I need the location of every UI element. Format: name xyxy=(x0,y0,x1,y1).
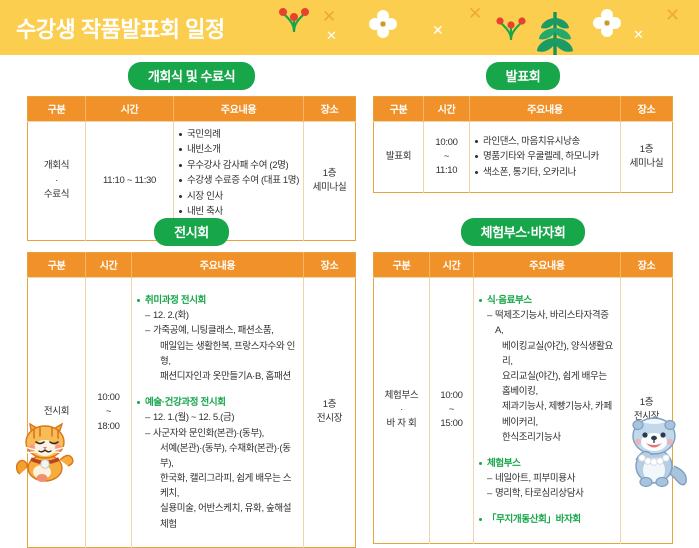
group-title: 체험부스 xyxy=(478,456,616,471)
section-opening-ceremony: 개회식 및 수료식 구분 시간 주요내용 장소 개회식 · 수료식 11:10 … xyxy=(27,62,356,241)
list-item: 우수강사 감사패 수여 (2명) xyxy=(178,158,299,173)
group-line: 서예(본관)·(동부), 수채화(본관)·(동부), xyxy=(136,441,299,471)
section-badge: 전시회 xyxy=(154,218,229,246)
schedule-table: 구분 시간 주요내용 장소 전시회 10:00 ~ 18:00 취미과정 전시회… xyxy=(27,252,356,548)
list-item: 내빈 축사 xyxy=(178,204,299,219)
cat-mascot xyxy=(12,414,84,486)
table-header-row: 구분 시간 주요내용 장소 xyxy=(374,253,673,278)
list-item: 수강생 수료증 수여 (대표 1명) xyxy=(178,173,299,188)
column-header-content: 주요내용 xyxy=(174,97,304,122)
section-presentation: 발표회 구분 시간 주요내용 장소 발표회 10:00 ~ 11:10 라인댄스… xyxy=(373,62,673,193)
cell-category: 체험부스 · 바 자 회 xyxy=(374,278,430,544)
group-line: 12. 2.(화) xyxy=(136,308,299,323)
list-item: 색소폰, 통기타, 오카리나 xyxy=(474,165,616,180)
table-header-row: 구분 시간 주요내용 장소 xyxy=(28,97,356,122)
group-line: 베이킹교실(야간), 양식생활요리, xyxy=(478,339,616,369)
column-header-place: 장소 xyxy=(621,253,673,278)
x-mark-icon: ✕ xyxy=(432,24,444,38)
table-row: 발표회 10:00 ~ 11:10 라인댄스, 마음치유시낭송 명품기타와 우쿨… xyxy=(374,122,673,193)
group-line: 네일아트, 피부미용사 xyxy=(478,471,616,486)
otter-mascot xyxy=(622,412,692,488)
cell-time: 10:00 ~ 11:10 xyxy=(424,122,470,193)
cell-category: 전시회 xyxy=(28,278,86,548)
content-group: 「무지개동산회」바자회 xyxy=(478,512,616,527)
column-header-content: 주요내용 xyxy=(132,253,304,278)
list-item: 명품기타와 우쿨렐레, 하모니카 xyxy=(474,149,616,164)
cell-place: 1층 전시장 xyxy=(304,278,356,548)
cell-content: 취미과정 전시회 12. 2.(화) 가죽공예, 니팅클래스, 패션소품, 매일… xyxy=(132,278,304,548)
group-line: 한국화, 캘리그라피, 쉽게 배우는 스케치, xyxy=(136,471,299,501)
group-line: 매일입는 생활한복, 프랑스자수와 인형, xyxy=(136,339,299,369)
table-row: 체험부스 · 바 자 회 10:00 ~ 15:00 식·음료부스 떡제조기능사… xyxy=(374,278,673,544)
section-experience-booth: 체험부스·바자회 구분 시간 주요내용 장소 체험부스 · 바 자 회 10:0… xyxy=(373,218,673,544)
section-badge: 개회식 및 수료식 xyxy=(128,62,255,90)
group-line: 사군자와 문인화(본관)·(동부), xyxy=(136,426,299,441)
table-row: 전시회 10:00 ~ 18:00 취미과정 전시회 12. 2.(화) 가죽공… xyxy=(28,278,356,548)
column-header-time: 시간 xyxy=(430,253,474,278)
group-line: 패션디자인과 옷만들기A·B, 홈패션 xyxy=(136,369,299,384)
schedule-table: 구분 시간 주요내용 장소 체험부스 · 바 자 회 10:00 ~ 15:00… xyxy=(373,252,673,544)
group-line: 실용미술, 어반스케치, 유화, 숲해설체험 xyxy=(136,501,299,531)
x-mark-icon: ✕ xyxy=(326,30,337,43)
section-badge: 발표회 xyxy=(486,62,561,90)
x-mark-icon: ✕ xyxy=(468,6,482,23)
list-item: 라인댄스, 마음치유시낭송 xyxy=(474,134,616,149)
group-line: 떡제조기능사, 바리스타자격증A, xyxy=(478,308,616,338)
column-header-content: 주요내용 xyxy=(474,253,621,278)
table-header-row: 구분 시간 주요내용 장소 xyxy=(374,97,673,122)
group-line: 가죽공예, 니팅클래스, 패션소품, xyxy=(136,323,299,338)
column-header-place: 장소 xyxy=(621,97,673,122)
column-header-category: 구분 xyxy=(28,97,86,122)
section-exhibition: 전시회 구분 시간 주요내용 장소 전시회 10:00 ~ 18:00 취미과정… xyxy=(27,218,356,548)
page-title: 수강생 작품발표회 일정 xyxy=(16,12,225,44)
column-header-time: 시간 xyxy=(424,97,470,122)
group-line: 12. 1.(월) ~ 12. 5.(금) xyxy=(136,410,299,425)
cell-content: 식·음료부스 떡제조기능사, 바리스타자격증A, 베이킹교실(야간), 양식생활… xyxy=(474,278,621,544)
list-item: 국민의례 xyxy=(178,127,299,142)
cell-place: 1층 세미나실 xyxy=(621,122,673,193)
column-header-place: 장소 xyxy=(304,253,356,278)
berry-sprig-icon xyxy=(277,4,311,34)
content-group: 식·음료부스 떡제조기능사, 바리스타자격증A, 베이킹교실(야간), 양식생활… xyxy=(478,293,616,445)
column-header-time: 시간 xyxy=(86,253,132,278)
group-line: 명리학, 타로심리상담사 xyxy=(478,486,616,501)
group-line: 제과기능사, 제빵기능사, 카페베이커리, xyxy=(478,399,616,429)
cell-category: 발표회 xyxy=(374,122,424,193)
section-badge: 체험부스·바자회 xyxy=(461,218,586,246)
group-line: 요리교실(야간), 쉽게 배우는 홈베이킹, xyxy=(478,369,616,399)
column-header-content: 주요내용 xyxy=(470,97,621,122)
flower-icon xyxy=(592,8,622,38)
column-header-place: 장소 xyxy=(304,97,356,122)
group-title: 식·음료부스 xyxy=(478,293,616,308)
x-mark-icon: ✕ xyxy=(322,9,336,26)
berry-sprig-icon xyxy=(495,14,527,42)
column-header-category: 구분 xyxy=(374,253,430,278)
content-group: 예술·건강과정 전시회 12. 1.(월) ~ 12. 5.(금) 사군자와 문… xyxy=(136,395,299,532)
group-title: 예술·건강과정 전시회 xyxy=(136,395,299,410)
column-header-category: 구분 xyxy=(28,253,86,278)
list-item: 시장 인사 xyxy=(178,189,299,204)
flower-icon xyxy=(368,9,398,39)
group-title: 취미과정 전시회 xyxy=(136,293,299,308)
content-group: 체험부스 네일아트, 피부미용사 명리학, 타로심리상담사 xyxy=(478,456,616,502)
schedule-table: 구분 시간 주요내용 장소 발표회 10:00 ~ 11:10 라인댄스, 마음… xyxy=(373,96,673,193)
cell-place: 1층 전시장 xyxy=(621,278,673,544)
column-header-time: 시간 xyxy=(86,97,174,122)
tree-icon xyxy=(535,8,575,55)
list-item: 내빈소개 xyxy=(178,142,299,157)
page-header: 수강생 작품발표회 일정 ✕ ✕ ✕ ✕ xyxy=(0,0,699,55)
content-group: 취미과정 전시회 12. 2.(화) 가죽공예, 니팅클래스, 패션소품, 매일… xyxy=(136,293,299,384)
content-bullet-list: 라인댄스, 마음치유시낭송 명품기타와 우쿨렐레, 하모니카 색소폰, 통기타,… xyxy=(474,134,616,180)
table-header-row: 구분 시간 주요내용 장소 xyxy=(28,253,356,278)
cell-time: 10:00 ~ 15:00 xyxy=(430,278,474,544)
cell-content: 라인댄스, 마음치유시낭송 명품기타와 우쿨렐레, 하모니카 색소폰, 통기타,… xyxy=(470,122,621,193)
x-mark-icon: ✕ xyxy=(665,7,680,25)
group-line: 한식조리기능사 xyxy=(478,430,616,445)
group-title: 「무지개동산회」바자회 xyxy=(478,512,616,527)
column-header-category: 구분 xyxy=(374,97,424,122)
x-mark-icon: ✕ xyxy=(633,29,644,42)
cell-time: 10:00 ~ 18:00 xyxy=(86,278,132,548)
